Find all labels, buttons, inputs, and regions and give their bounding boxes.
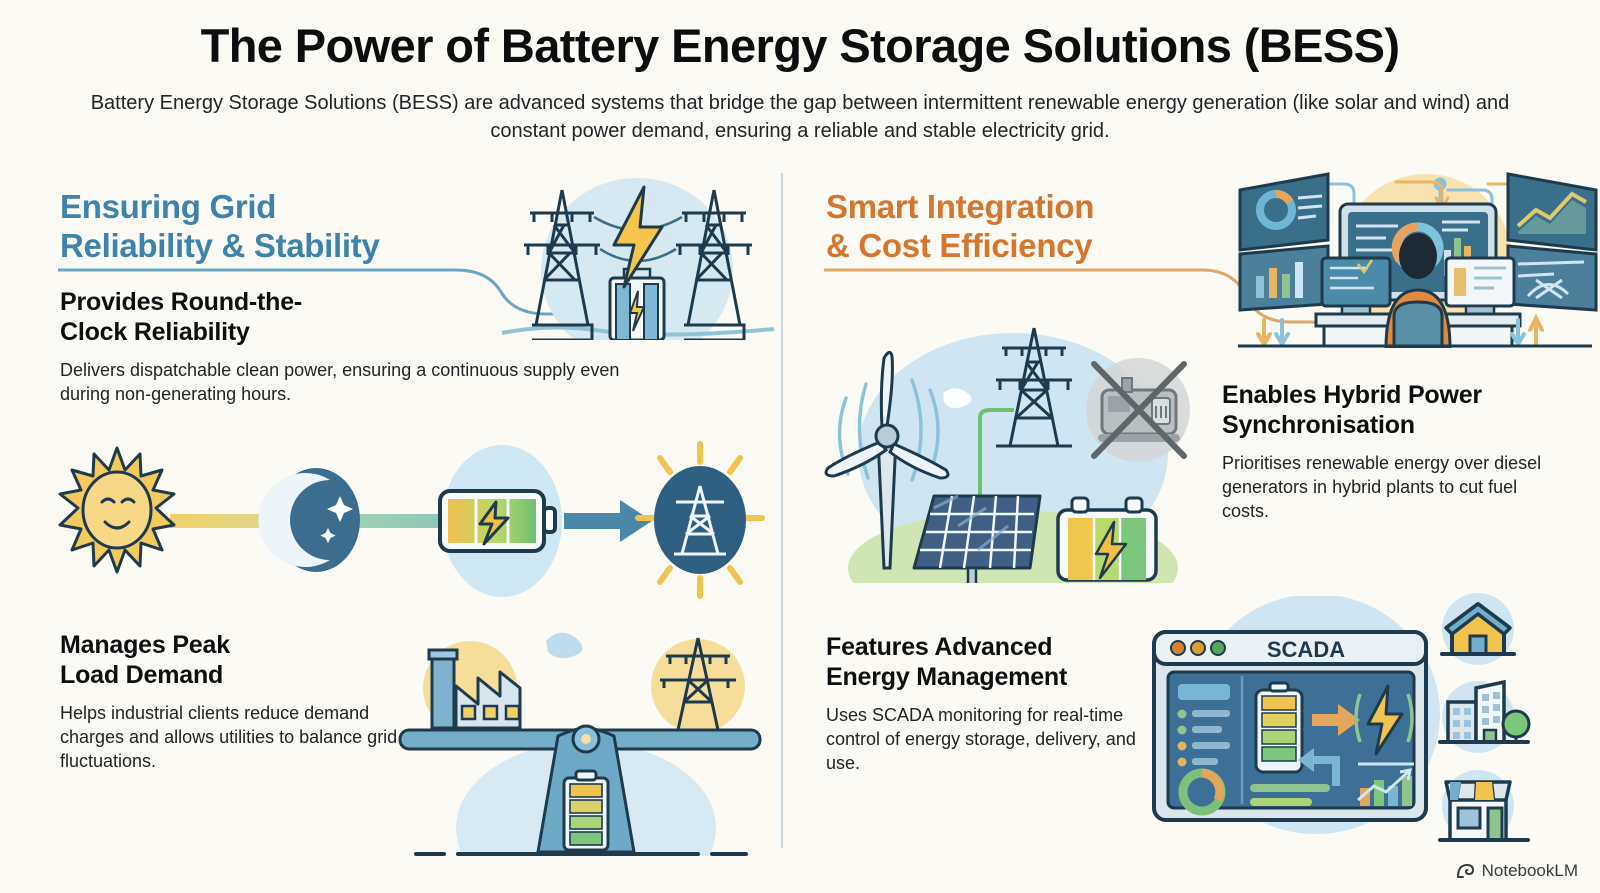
- battery-icon: [1058, 498, 1156, 580]
- infographic-canvas: The Power of Battery Energy Storage Solu…: [0, 0, 1600, 893]
- consumer-buildings-icons: [1428, 592, 1538, 844]
- block3-heading: Enables Hybrid Power Synchronisation: [1222, 380, 1542, 440]
- watermark: NotebookLM: [1455, 861, 1578, 881]
- right-column-heading: Smart Integration & Cost Efficiency: [826, 188, 1094, 265]
- block3-heading-line2: Synchronisation: [1222, 411, 1415, 439]
- block4-heading: Features Advanced Energy Management: [826, 632, 1136, 692]
- block1-body: Delivers dispatchable clean power, ensur…: [60, 358, 650, 406]
- energy-flow-diagram: [52, 430, 772, 615]
- left-heading-line2: Reliability & Stability: [60, 227, 380, 266]
- left-heading-line1: Ensuring Grid: [60, 188, 380, 227]
- block1-heading-line2: Clock Reliability: [60, 318, 250, 346]
- block1-heading-line1: Provides Round-the-: [60, 288, 302, 316]
- scada-window-label: SCADA: [1267, 637, 1345, 662]
- right-heading-line1: Smart Integration: [826, 188, 1094, 227]
- watermark-label: NotebookLM: [1482, 861, 1578, 881]
- no-diesel-generator-icon: [1086, 358, 1190, 462]
- moon-icon: [258, 468, 360, 572]
- office-building-icon: [1440, 681, 1529, 753]
- block-advanced-energy-management: Features Advanced Energy Management Uses…: [826, 632, 1136, 775]
- block4-heading-line1: Features Advanced: [826, 633, 1052, 661]
- renewables-hybrid-icon: [818, 318, 1203, 583]
- block-hybrid-power-synchronisation: Enables Hybrid Power Synchronisation Pri…: [1222, 380, 1542, 523]
- block-manages-peak-load-demand: Manages Peak Load Demand Helps industria…: [60, 630, 430, 773]
- page-subtitle: Battery Energy Storage Solutions (BESS) …: [90, 90, 1510, 145]
- left-column-heading: Ensuring Grid Reliability & Stability: [60, 188, 380, 265]
- power-grid-icon: [638, 444, 762, 596]
- right-heading-line2: & Cost Efficiency: [826, 227, 1094, 266]
- block3-heading-line1: Enables Hybrid Power: [1222, 381, 1482, 409]
- shop-icon: [1440, 770, 1528, 842]
- peak-load-balance-icon: [398, 608, 763, 856]
- block2-body: Helps industrial clients reduce demand c…: [60, 701, 430, 773]
- block4-heading-line2: Energy Management: [826, 663, 1067, 691]
- block3-body: Prioritises renewable energy over diesel…: [1222, 451, 1542, 523]
- control-room-icon: [1236, 168, 1600, 348]
- block4-body: Uses SCADA monitoring for real-time cont…: [826, 703, 1136, 775]
- transmission-towers-icon: [492, 165, 782, 340]
- battery-icon: [440, 491, 555, 551]
- block2-heading-line2: Load Demand: [60, 661, 223, 689]
- sun-icon: [60, 448, 174, 572]
- block2-heading: Manages Peak Load Demand: [60, 630, 430, 690]
- scada-dashboard-icon: SCADA: [1146, 596, 1446, 846]
- page-title: The Power of Battery Energy Storage Solu…: [0, 18, 1600, 73]
- house-icon: [1442, 593, 1514, 665]
- notebooklm-spiral-icon: [1455, 861, 1475, 881]
- block2-heading-line1: Manages Peak: [60, 631, 230, 659]
